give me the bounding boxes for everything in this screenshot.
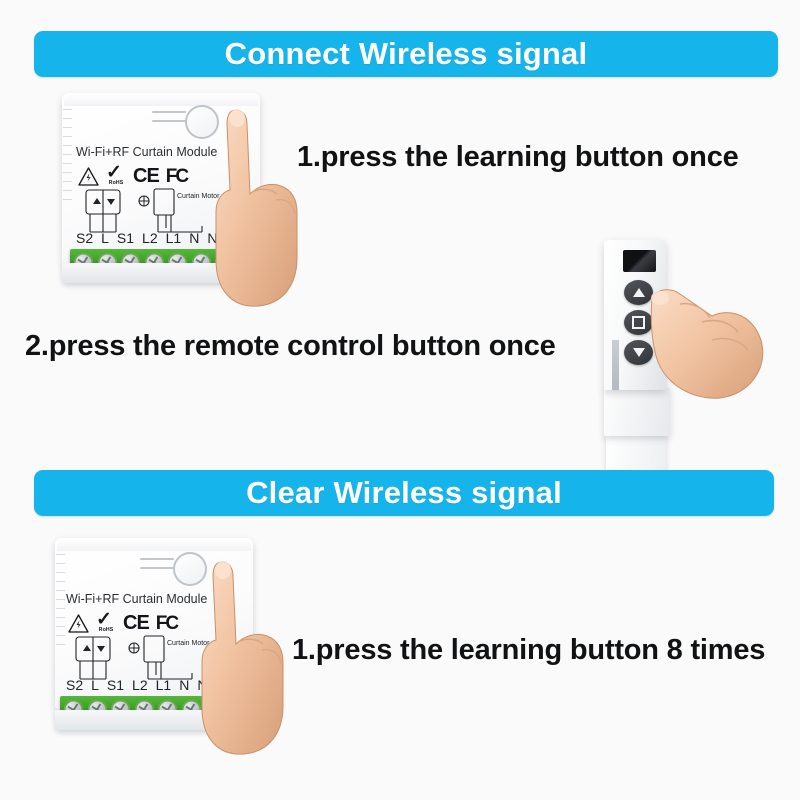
module-side-ribs (56, 554, 65, 664)
step-text-3: 1.press the learning button 8 times (292, 634, 765, 667)
banner-label: Connect Wireless signal (225, 36, 588, 72)
terminal-label: L (101, 230, 109, 246)
pointing-hand-illustration-remote (650, 282, 790, 422)
pointing-hand-illustration-2 (184, 560, 309, 755)
terminal-label: S1 (117, 230, 134, 246)
certification-marks: ✓ RoHS CE FC (78, 165, 187, 186)
terminal-label: L1 (166, 230, 182, 246)
section-banner-clear: Clear Wireless signal (34, 470, 774, 516)
learn-button-leader-lines (152, 111, 186, 129)
terminal-label: L2 (142, 230, 158, 246)
step-text-1: 1.press the learning button once (297, 141, 739, 174)
remote-side-stripe (612, 340, 619, 390)
rohs-check-glyph: ✓ (96, 612, 116, 627)
terminal-label: S2 (66, 677, 83, 693)
terminal-label: S2 (76, 230, 93, 246)
section-banner-connect: Connect Wireless signal (34, 31, 778, 77)
step-text-2: 2.press the remote control button once (25, 330, 556, 363)
certification-marks: ✓ RoHS CE FC (68, 612, 177, 633)
triangle-up-icon (633, 288, 645, 297)
remote-down-button[interactable] (624, 340, 653, 365)
danger-triangle-icon (78, 167, 99, 186)
fcc-mark-icon: FC (156, 614, 177, 633)
pointing-hand-illustration-1 (196, 108, 321, 308)
rohs-check-glyph: ✓ (106, 165, 126, 180)
square-stop-icon (632, 316, 645, 329)
ce-mark-icon: CE (133, 167, 159, 186)
remote-display (623, 250, 656, 272)
remote-stop-button[interactable] (624, 310, 653, 335)
remote-up-button[interactable] (624, 280, 653, 305)
remote-bottom-cover (606, 433, 666, 471)
terminal-label: S1 (107, 677, 124, 693)
fcc-mark-icon: FC (166, 167, 187, 186)
terminal-label: L (91, 677, 99, 693)
learn-button-leader-lines (140, 558, 174, 576)
rohs-icon: ✓ RoHS (106, 165, 126, 186)
module-top-face (57, 539, 251, 551)
rohs-label: RoHS (96, 627, 116, 633)
banner-label: Clear Wireless signal (246, 475, 562, 511)
rohs-icon: ✓ RoHS (96, 612, 116, 633)
triangle-down-icon (633, 348, 645, 357)
rohs-label: RoHS (106, 180, 126, 186)
module-side-ribs (63, 109, 72, 219)
terminal-label: L2 (132, 677, 148, 693)
module-top-face (64, 94, 258, 106)
danger-triangle-icon (68, 614, 89, 633)
instruction-poster: Connect Wireless signal Wi-Fi+RF Curtain… (0, 0, 800, 800)
ce-mark-icon: CE (123, 614, 149, 633)
terminal-label: L1 (156, 677, 172, 693)
